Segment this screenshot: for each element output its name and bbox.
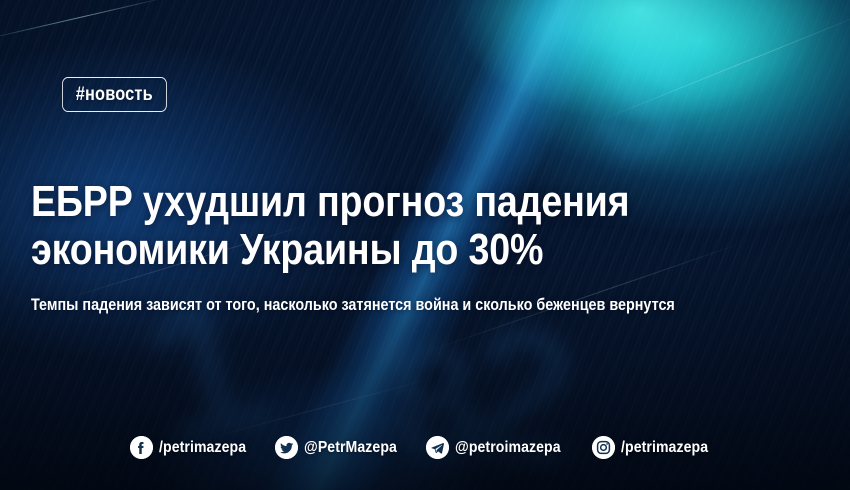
telegram-icon[interactable] bbox=[426, 436, 449, 459]
instagram-icon[interactable] bbox=[592, 436, 615, 459]
category-tag-label: #новость bbox=[76, 84, 153, 106]
social-handle-twitter: @PetrMazepa bbox=[304, 439, 397, 457]
card-content: #новость ЕБРР ухудшил прогноз падения эк… bbox=[0, 0, 850, 490]
facebook-icon[interactable] bbox=[130, 436, 153, 459]
social-handle-telegram: @petroimazepa bbox=[455, 439, 561, 457]
twitter-icon[interactable] bbox=[275, 436, 298, 459]
category-tag[interactable]: #новость bbox=[62, 77, 167, 112]
social-bar: /petrimazepa @PetrMazepa bbox=[0, 436, 850, 459]
social-item-facebook[interactable]: /petrimazepa bbox=[130, 436, 258, 459]
news-card: 1 8 2 $ #новость ЕБРР ухудшил прогноз па… bbox=[0, 0, 850, 490]
subheadline: Темпы падения зависят от того, насколько… bbox=[31, 294, 775, 315]
social-item-telegram[interactable]: @petroimazepa bbox=[426, 436, 575, 459]
social-handle-facebook: /petrimazepa bbox=[159, 439, 246, 457]
social-item-instagram[interactable]: /petrimazepa bbox=[592, 436, 720, 459]
headline: ЕБРР ухудшил прогноз падения экономики У… bbox=[31, 178, 715, 274]
social-handle-instagram: /petrimazepa bbox=[621, 439, 708, 457]
social-item-twitter[interactable]: @PetrMazepa bbox=[275, 436, 410, 459]
